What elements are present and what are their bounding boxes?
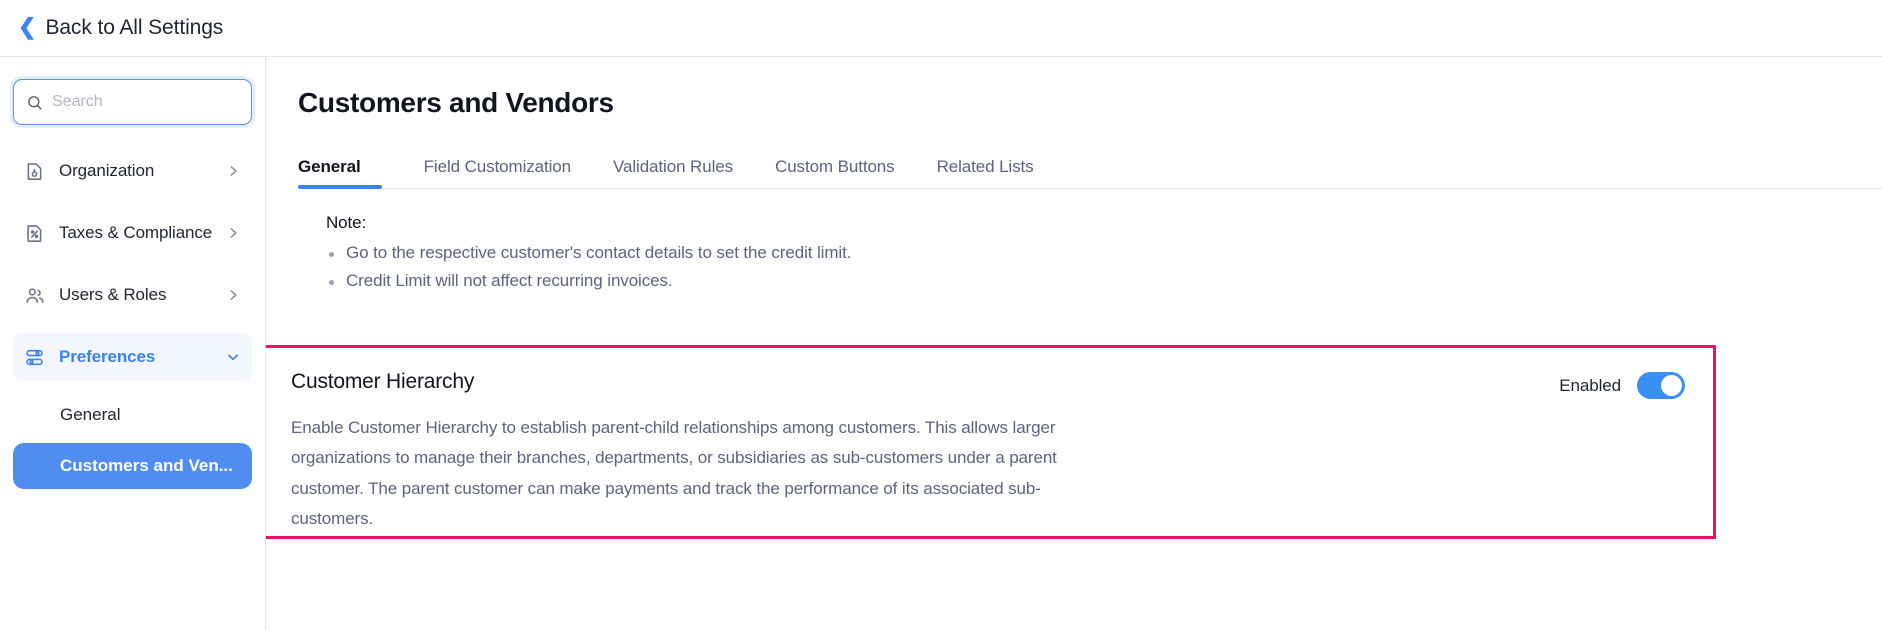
customer-hierarchy-header: Customer Hierarchy Enabled [291, 370, 1687, 399]
search-input[interactable] [52, 93, 239, 111]
chevron-right-icon [226, 288, 240, 302]
sidebar-item-label: Users & Roles [59, 285, 226, 305]
sidebar-subitem-customers-and-vendors[interactable]: Customers and Ven... [13, 443, 252, 489]
tab-bar: General Field Customization Validation R… [298, 151, 1882, 189]
chevron-right-icon [226, 164, 240, 178]
toggle-knob [1661, 375, 1682, 396]
note-title: Note: [326, 213, 1882, 233]
chevron-down-icon [226, 350, 240, 364]
top-bar: ❮ Back to All Settings [0, 0, 1882, 57]
sidebar-item-users-and-roles[interactable]: Users & Roles [13, 271, 252, 319]
customer-hierarchy-description: Enable Customer Hierarchy to establish p… [291, 413, 1081, 534]
tax-document-icon [24, 223, 45, 244]
chevron-right-icon [226, 226, 240, 240]
sidebar-nav: Organization Taxes & Compliance [13, 147, 252, 489]
note-list-item: Credit Limit will not affect recurring i… [326, 271, 1882, 291]
note-list-item: Go to the respective customer's contact … [326, 243, 1882, 263]
tab-custom-buttons[interactable]: Custom Buttons [754, 157, 916, 188]
preferences-icon [24, 347, 45, 368]
organization-icon [24, 161, 45, 182]
tab-related-lists[interactable]: Related Lists [916, 157, 1055, 188]
customer-hierarchy-toggle[interactable] [1637, 372, 1685, 399]
users-icon [24, 285, 45, 306]
body-row: Organization Taxes & Compliance [0, 57, 1882, 630]
tab-general[interactable]: General [298, 157, 382, 188]
back-link-label: Back to All Settings [45, 16, 223, 40]
customer-hierarchy-toggle-group: Enabled [1559, 372, 1685, 399]
sidebar-subitem-general[interactable]: General [13, 395, 252, 435]
sidebar-item-label: Taxes & Compliance [59, 223, 226, 243]
toggle-state-label: Enabled [1559, 376, 1621, 396]
tab-validation-rules[interactable]: Validation Rules [592, 157, 754, 188]
customer-hierarchy-title: Customer Hierarchy [291, 370, 474, 394]
tab-field-customization[interactable]: Field Customization [403, 157, 592, 188]
note-block: Note: Go to the respective customer's co… [298, 189, 1882, 291]
page-title: Customers and Vendors [298, 87, 1882, 119]
note-list: Go to the respective customer's contact … [326, 243, 1882, 291]
settings-sidebar: Organization Taxes & Compliance [0, 57, 266, 630]
main-content: Customers and Vendors General Field Cust… [266, 57, 1882, 630]
sidebar-item-taxes-and-compliance[interactable]: Taxes & Compliance [13, 209, 252, 257]
sidebar-item-label: Organization [59, 161, 226, 181]
search-box[interactable] [13, 79, 252, 125]
customer-hierarchy-card: Customer Hierarchy Enabled Enable Custom… [266, 345, 1716, 539]
sidebar-subitem-label: General [60, 405, 120, 425]
back-to-all-settings-link[interactable]: ❮ Back to All Settings [18, 16, 223, 40]
settings-page: ❮ Back to All Settings [0, 0, 1882, 630]
sidebar-item-label: Preferences [59, 347, 226, 367]
sidebar-item-organization[interactable]: Organization [13, 147, 252, 195]
sidebar-item-preferences[interactable]: Preferences [13, 333, 252, 381]
sidebar-subitem-label: Customers and Ven... [60, 456, 233, 476]
search-icon [26, 94, 43, 111]
chevron-left-icon: ❮ [18, 16, 36, 38]
